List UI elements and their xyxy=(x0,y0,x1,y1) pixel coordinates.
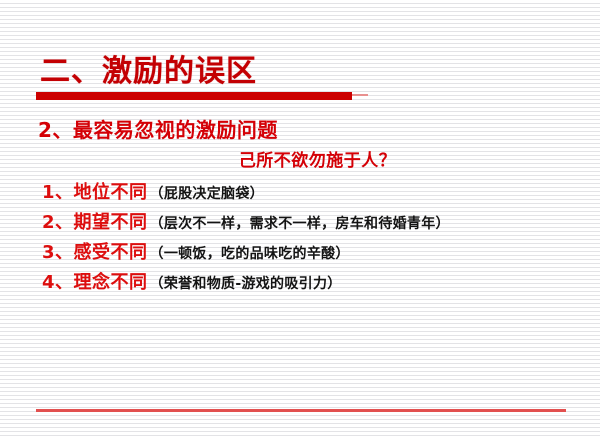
title-underline-thick xyxy=(36,92,352,100)
list-item-key: 2、期望不同 xyxy=(42,212,148,233)
quote-line: 己所不欲勿施于人？ xyxy=(0,146,585,171)
list-item: 2、期望不同（层次不一样，需求不一样，房车和待婚青年） xyxy=(42,208,587,238)
list-item-key: 3、感受不同 xyxy=(42,242,148,263)
slide-canvas: 二、激励的误区 2、最容易忽视的激励问题 己所不欲勿施于人？ 1、地位不同（屁股… xyxy=(0,0,600,438)
list-item: 1、地位不同（屁股决定脑袋） xyxy=(42,178,587,208)
section-subtitle: 2、最容易忽视的激励问题 xyxy=(38,114,278,143)
list-item-key: 4、理念不同 xyxy=(42,272,148,293)
title-underline-thin xyxy=(352,94,368,96)
list-item-note: （一顿饭，吃的品味吃的辛酸） xyxy=(148,246,350,262)
list-item-note: （屁股决定脑袋） xyxy=(148,186,264,202)
title-underline xyxy=(36,91,368,100)
list-item: 4、理念不同（荣誉和物质-游戏的吸引力） xyxy=(42,268,587,298)
footer-divider xyxy=(36,409,566,412)
list-item-note: （层次不一样，需求不一样，房车和待婚青年） xyxy=(148,216,450,232)
page-title: 二、激励的误区 xyxy=(40,46,257,90)
list-item: 3、感受不同（一顿饭，吃的品味吃的辛酸） xyxy=(42,238,587,268)
list-item-key: 1、地位不同 xyxy=(42,182,148,203)
list-item-note: （荣誉和物质-游戏的吸引力） xyxy=(148,276,342,292)
bullet-list: 1、地位不同（屁股决定脑袋） 2、期望不同（层次不一样，需求不一样，房车和待婚青… xyxy=(42,178,587,298)
